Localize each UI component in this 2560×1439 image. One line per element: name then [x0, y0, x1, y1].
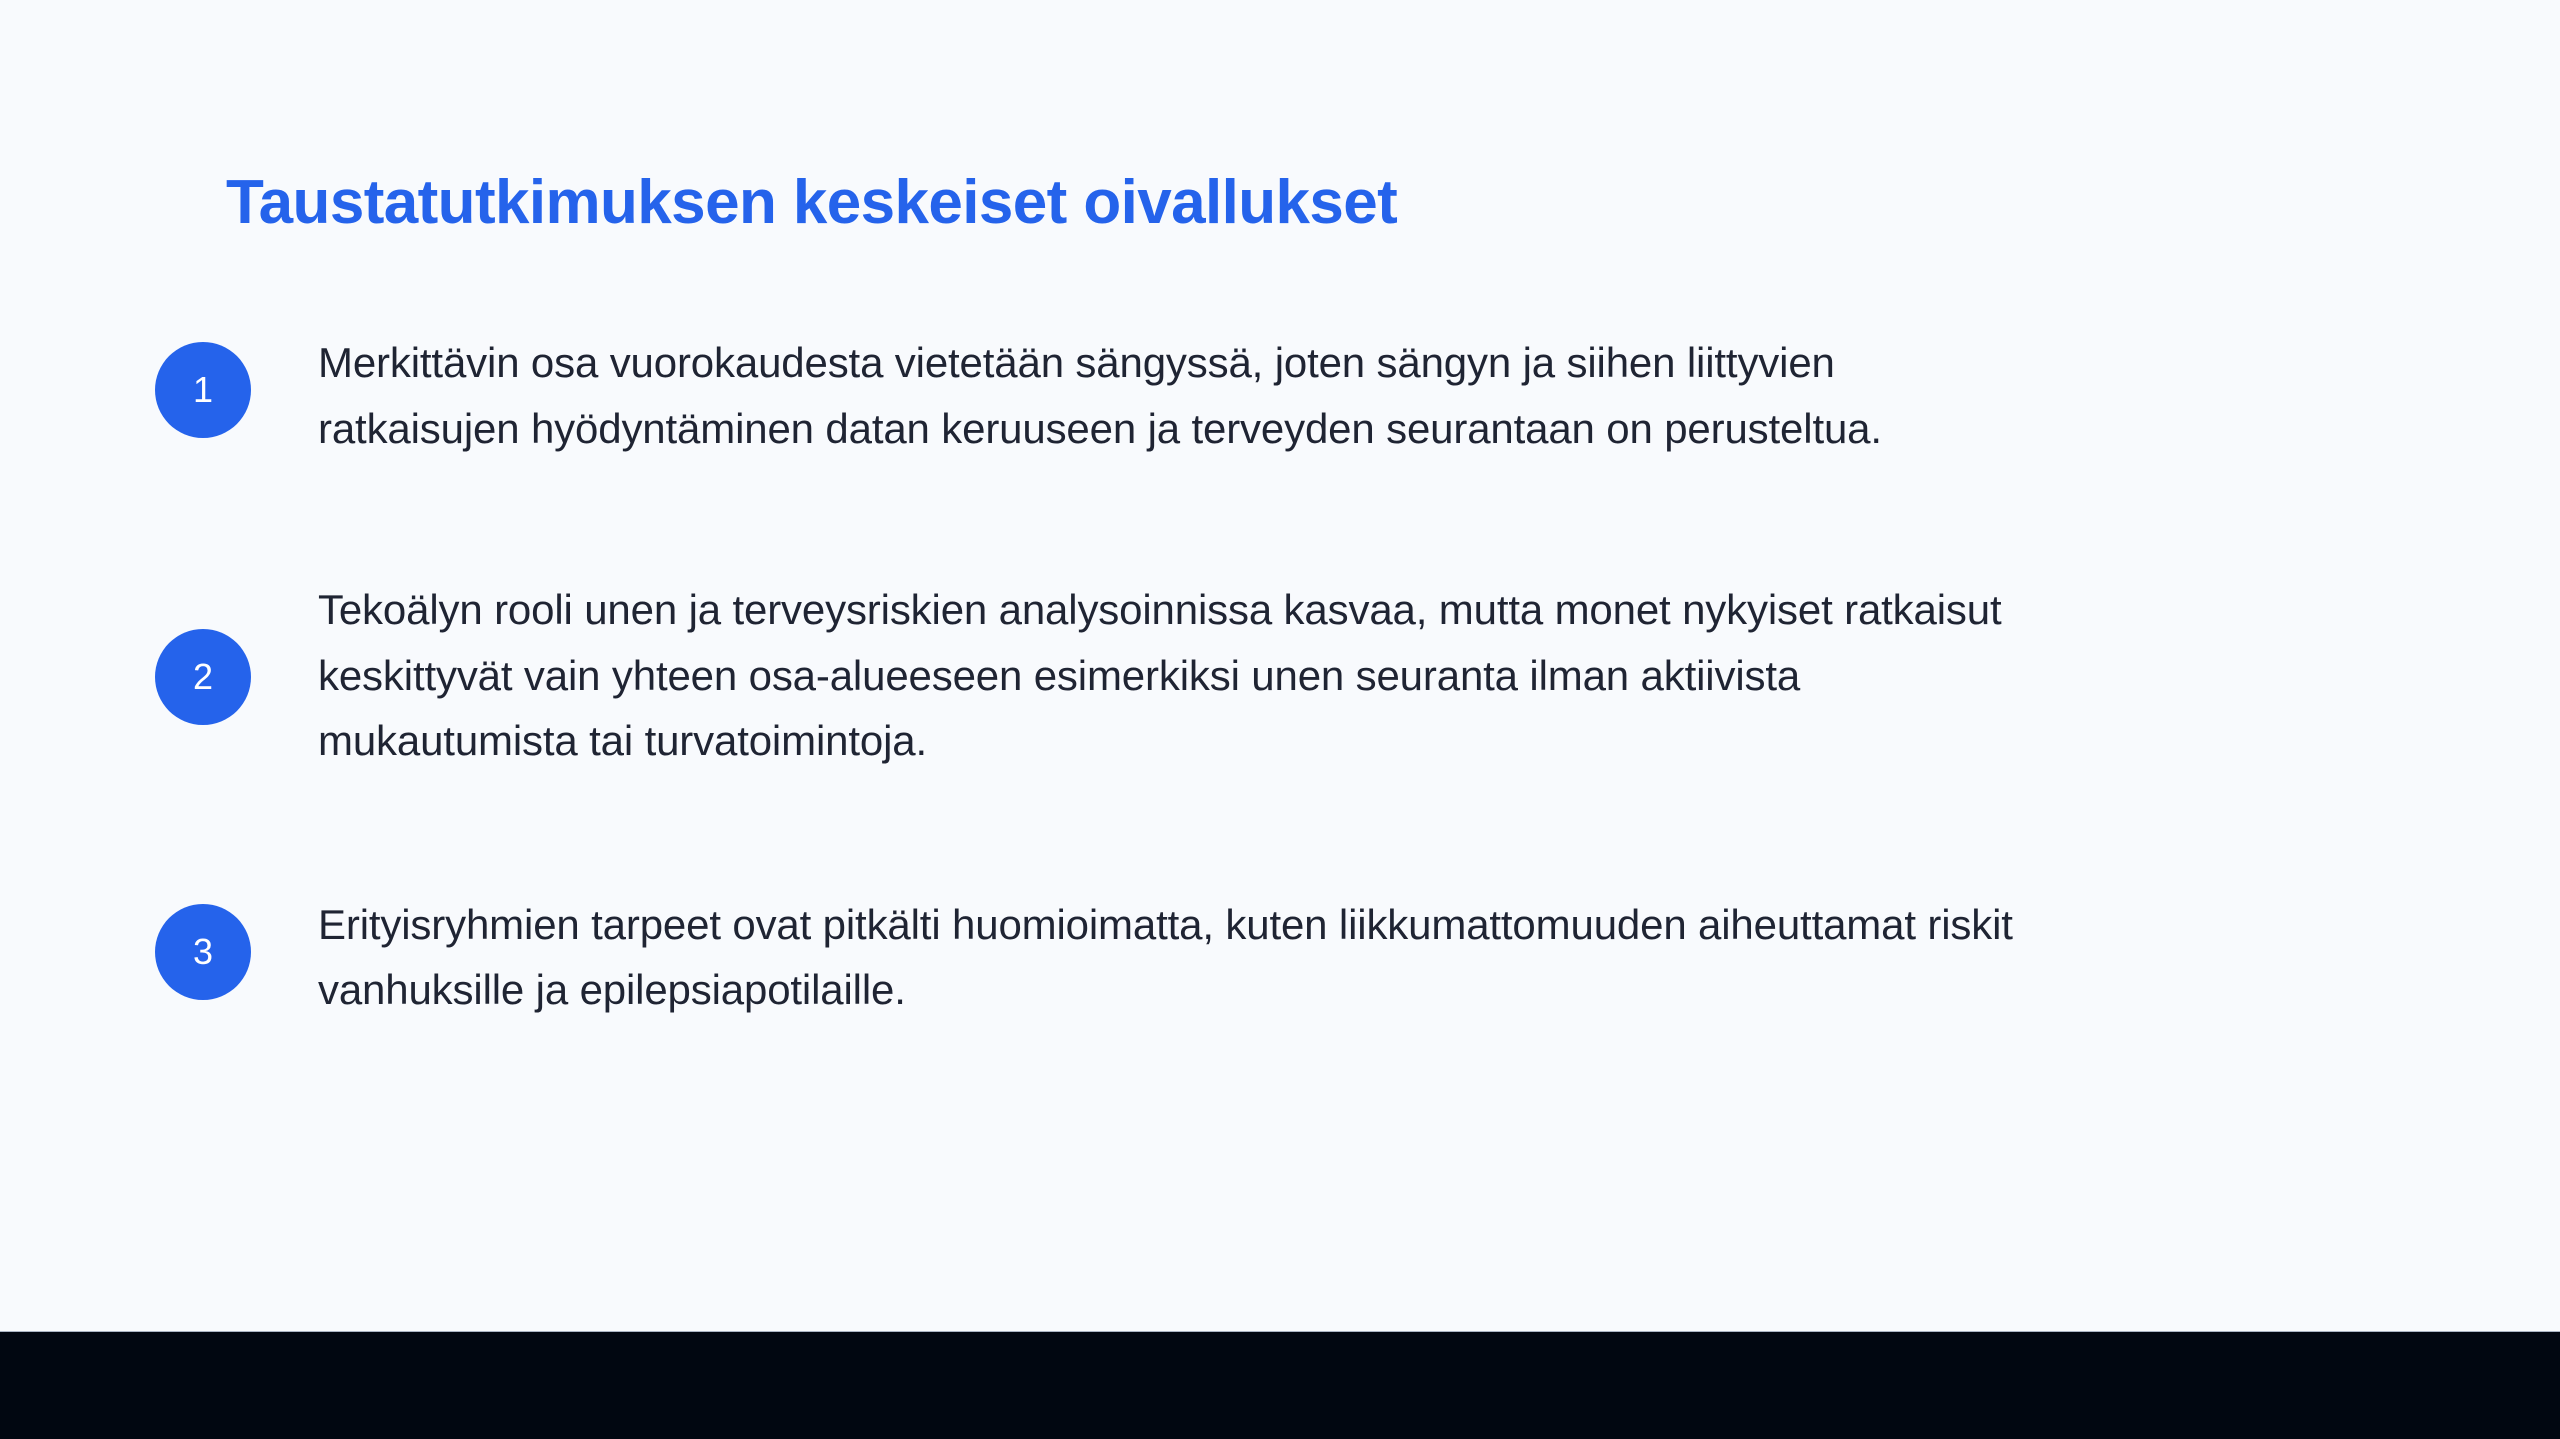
slide-content-area: Taustatutkimuksen keskeiset oivallukset …	[0, 0, 2560, 1332]
insight-number-badge: 1	[155, 342, 251, 438]
badge-container: 2	[155, 577, 318, 725]
list-item: 3 Erityisryhmien tarpeet ovat pitkälti h…	[155, 892, 2255, 1023]
insight-number-badge: 2	[155, 629, 251, 725]
list-item: 1 Merkittävin osa vuorokaudesta vietetää…	[155, 330, 2255, 461]
footer-bar	[0, 1332, 2560, 1439]
page-title: Taustatutkimuksen keskeiset oivallukset	[226, 168, 1397, 237]
insight-text: Erityisryhmien tarpeet ovat pitkälti huo…	[318, 892, 2018, 1023]
insight-text: Tekoälyn rooli unen ja terveysriskien an…	[318, 577, 2018, 774]
insight-text: Merkittävin osa vuorokaudesta vietetään …	[318, 330, 2018, 461]
list-item: 2 Tekoälyn rooli unen ja terveysriskien …	[155, 577, 2255, 774]
insight-number-badge: 3	[155, 904, 251, 1000]
badge-container: 3	[155, 892, 318, 1000]
slide-root: Taustatutkimuksen keskeiset oivallukset …	[0, 0, 2560, 1439]
badge-container: 1	[155, 330, 318, 438]
insights-list: 1 Merkittävin osa vuorokaudesta vietetää…	[155, 330, 2255, 1023]
